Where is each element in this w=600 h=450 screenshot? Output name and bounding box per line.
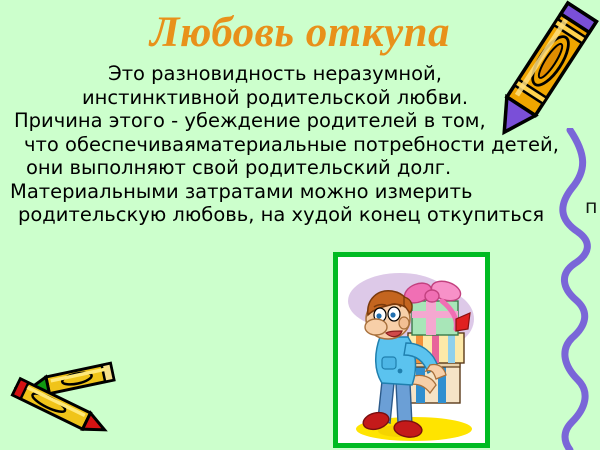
body-line: что обеспечиваяматериальные потребности …: [0, 133, 600, 157]
presentation-slide: Любовь откупа Это разновидность неразумн…: [0, 0, 600, 450]
body-line: Это разновидность неразумной,: [0, 62, 600, 86]
body-line: родительскую любовь, на худой конец отку…: [0, 203, 600, 227]
gift-picture-frame: [333, 252, 490, 448]
crayons-pair-icon: [2, 345, 130, 445]
page-title: Любовь откупа: [0, 8, 600, 58]
body-line: они выполняют свой родительский долг.: [0, 156, 600, 180]
body-line: инстинктивной родительской любви.: [0, 86, 600, 110]
body-text-block: Это разновидность неразумной, инстинктив…: [0, 62, 600, 227]
body-line: Материальными затратами можно измерить: [0, 180, 600, 204]
boy-carrying-gifts-illustration: [338, 257, 485, 443]
clipped-edge-glyph: п: [585, 196, 597, 218]
body-line: Причина этого - убеждение родителей в то…: [0, 109, 600, 133]
